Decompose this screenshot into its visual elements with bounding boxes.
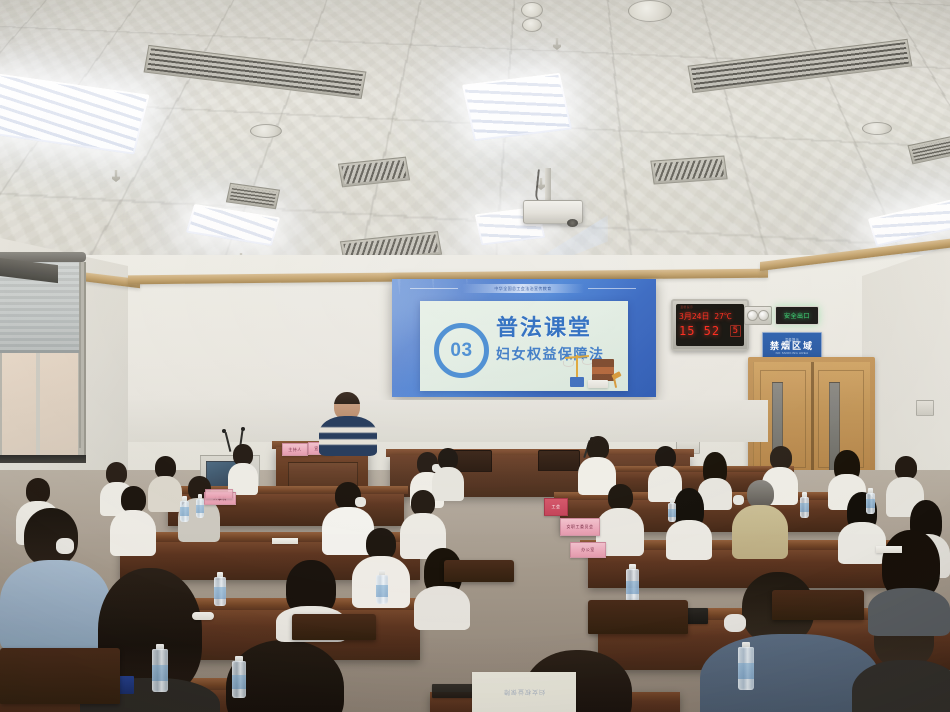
scales-post-icon [576,355,578,377]
slide-header-text: 中华全国总工会法治宣传教育 [494,286,551,292]
presenter-torso [319,416,377,456]
projector-lens-icon [567,219,578,227]
door-center-joint [811,362,814,472]
attendee [868,530,950,622]
paper-on-desk [192,612,214,620]
bottle-label [180,507,189,516]
water-bottle[interactable] [800,492,809,518]
desk-placard-text: 女职工委员会 [567,524,594,530]
chair-back[interactable] [444,560,514,582]
bottle-label [800,503,809,512]
water-bottle[interactable] [376,570,388,604]
desk-placard: 工会 [544,498,568,516]
roller-blind-cord[interactable] [79,262,81,448]
bottle-label [738,663,754,679]
led-time-row: 15 52 5 [679,324,741,337]
gavel-handle-icon [613,377,617,388]
water-bottle[interactable] [668,498,676,522]
bottle-label [376,585,388,597]
bottle-label [152,665,168,681]
ceiling-speaker-icon [522,18,542,32]
slide-rule-right [588,288,636,289]
desk-placard [205,489,233,499]
document-text: 妇女权益保障 [503,688,545,697]
ceiling-detail-disc [862,122,892,135]
led-time-text: 15 52 [679,324,720,338]
lecture-room-photo: 中华全国总工会法治宣传教育 03 普法课堂 妇女权益保障法 [0,0,950,712]
microphone-head-icon [222,429,226,433]
face-mask [56,538,74,554]
attendee [596,484,644,550]
paper-on-desk [876,546,902,553]
desk-placard: 女职工委员会 [560,518,600,536]
attendee [110,486,156,550]
attendee-torso [110,510,156,556]
chair-back[interactable] [0,648,120,704]
attendee-head [608,484,633,511]
presenter [318,392,380,454]
bottle-label [232,675,246,689]
emergency-exit-sign: 安全出口 [775,306,819,325]
wall-outlet-plate [916,400,934,416]
front-wall-strip [128,400,768,442]
ceiling-detail-disc [250,124,282,138]
attendee [414,548,470,618]
led-caption: 温馨提示 [680,305,693,309]
water-bottle[interactable] [180,496,189,522]
attendee-head [121,486,146,513]
slide-rule-left [410,288,458,289]
slide-content-card: 03 普法课堂 妇女权益保障法 [420,301,628,391]
attendee [732,480,788,554]
led-seconds-text: 5 [730,325,741,337]
desk-placard-text: 办公室 [581,547,595,553]
face-mask [355,497,366,507]
chair-back[interactable] [588,600,688,634]
emergency-lamp-icon [747,310,758,321]
attendee-torso [732,505,788,559]
water-bottle[interactable] [232,656,246,698]
face-mask [733,495,744,505]
hvac-vent-slats [341,160,406,184]
led-clock-display: 温馨提示 3月24日 27℃ 15 52 5 [671,299,749,351]
water-bottle[interactable] [738,642,754,690]
attendee-torso [666,520,712,560]
desk-placard-text: 工会 [552,504,561,510]
open-document-icon [588,380,608,388]
led-clock-face: 温馨提示 3月24日 27℃ 15 52 5 [676,304,744,346]
water-bottle[interactable] [866,488,875,514]
suspended-ceiling [0,0,950,290]
hvac-vent-slats [911,139,950,161]
attendee-torso [852,660,950,712]
no-smoking-wall-sign: 温馨提示 禁烟区域 NO SMOKING AREA [762,332,822,360]
attendee-head [24,508,78,566]
hvac-vent-slats [654,159,725,182]
slide-header-banner: 中华全国总工会法治宣传教育 [462,284,584,293]
water-bottle[interactable] [196,494,204,518]
slide-number-badge: 03 [434,323,489,378]
slide-number-text: 03 [450,341,472,360]
exit-sign-text: 安全出口 [784,311,810,320]
ceiling-projector [523,200,583,224]
attendee-torso [868,588,950,636]
emergency-light [744,306,772,325]
scales-base-icon [570,377,584,387]
attendee-head [747,480,774,508]
light-panel [462,73,572,142]
paper-on-desk [272,538,298,544]
water-bottle[interactable] [214,572,226,606]
slide-title: 普法课堂 [496,317,592,339]
no-smoking-sign-main-text: 禁烟区域 [770,342,814,351]
bottle-label [668,509,676,517]
ceiling-speaker-icon [521,2,543,18]
front-chair[interactable] [538,450,580,471]
hvac-vent-slats [230,186,277,206]
scales-pan-left-icon [563,361,574,367]
no-smoking-sign-english-text: NO SMOKING AREA [776,351,809,355]
emergency-lamp-icon [758,310,769,321]
window-sill [0,455,86,463]
water-bottle[interactable] [626,564,639,602]
bottle-label [214,587,226,599]
podium-placard-text: 主持人 [288,447,302,453]
ceiling-shading [0,0,950,290]
microphone-head-icon [241,427,245,431]
bottle-label [196,505,204,513]
desk-placard: 办公室 [570,542,606,558]
projection-screen: 中华全国总工会法治宣传教育 03 普法课堂 妇女权益保障法 [392,279,656,397]
justice-illustration-icon [562,353,624,391]
document-on-desk[interactable]: 妇女权益保障 [472,672,576,712]
bottle-label [626,581,639,594]
face-mask [724,614,746,632]
notebook-on-desk[interactable] [432,684,476,698]
chair-back[interactable] [292,614,376,640]
water-bottle[interactable] [152,644,168,692]
attendee-torso [414,586,470,630]
ceiling-speaker-icon [628,0,672,22]
podium-placard: 主持人 [282,443,308,456]
bottle-label [866,499,875,508]
led-date-row: 3月24日 27℃ [679,311,741,322]
light-panel-tubes [464,75,569,139]
attendee [228,444,258,492]
chair-back[interactable] [772,590,864,620]
